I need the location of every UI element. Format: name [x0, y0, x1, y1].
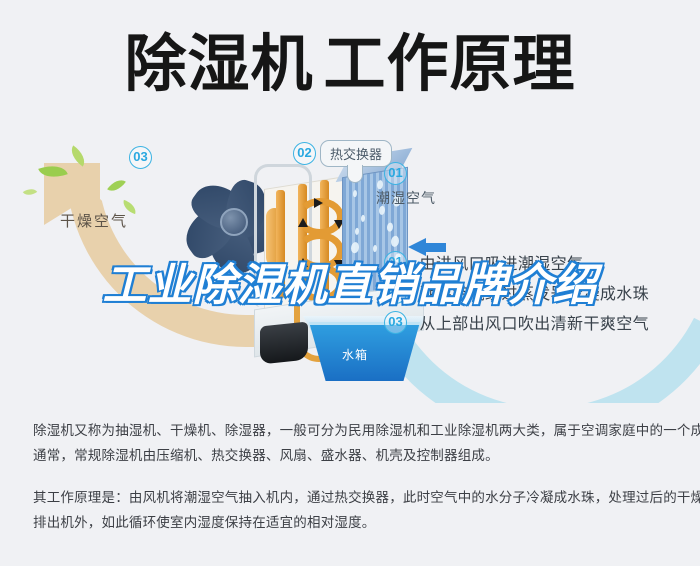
- water-tank-label: 水箱: [342, 346, 368, 363]
- dry-air-label: 干燥空气: [60, 210, 128, 231]
- humid-air-label: 潮湿空气: [376, 188, 436, 208]
- infographic-page: 除湿机工作原理 干燥空气: [0, 0, 700, 566]
- water-droplet-icon: [353, 190, 357, 198]
- flow-arrow-right-icon: [314, 198, 323, 208]
- legend-badge: 03: [384, 311, 407, 334]
- paragraph-line: 其工作原理是：由风机将潮湿空气抽入机内，通过热交换器，此时空气中的水分子冷凝成水…: [33, 485, 669, 510]
- water-droplet-icon: [355, 228, 359, 236]
- description-paragraph-1: 除湿机又称为抽湿机、干燥机、除湿器，一般可分为民用除湿机和工业除湿机两大类，属于…: [33, 418, 669, 468]
- paragraph-line: 排出机外，如此循环使室内湿度保持在适宜的相对湿度。: [33, 510, 669, 535]
- fan-hub: [220, 208, 248, 236]
- water-droplet-icon: [387, 222, 393, 232]
- page-title-part2: 工作原理: [324, 30, 576, 99]
- paragraph-line: 除湿机又称为抽湿机、干燥机、除湿器，一般可分为民用除湿机和工业除湿机两大类，属于…: [33, 418, 669, 443]
- description-paragraph-2: 其工作原理是：由风机将潮湿空气抽入机内，通过热交换器，此时空气中的水分子冷凝成水…: [33, 485, 669, 535]
- page-title-part1: 除湿机: [124, 30, 313, 99]
- water-droplet-icon: [373, 245, 377, 253]
- heat-exchanger-callout: 热交换器: [320, 140, 392, 167]
- flow-arrow-up-icon: [298, 218, 308, 227]
- paragraph-line: 通常，常规除湿机由压缩机、热交换器、风扇、盛水器、机壳及控制器组成。: [33, 443, 669, 468]
- overlay-headline: 工业除湿机直销品牌介绍: [0, 262, 700, 310]
- diagram-badge-03: 03: [129, 146, 152, 169]
- diagram-badge-02: 02: [293, 142, 316, 165]
- water-droplet-icon: [351, 242, 359, 254]
- legend-item: 03 从上部出风口吹出清新干爽空气: [384, 310, 684, 340]
- motor-unit: [260, 321, 308, 364]
- water-droplet-icon: [361, 215, 365, 223]
- legend-text: 从上部出风口吹出清新干爽空气: [419, 310, 649, 334]
- page-title: 除湿机工作原理: [0, 32, 700, 98]
- water-droplet-icon: [391, 235, 399, 247]
